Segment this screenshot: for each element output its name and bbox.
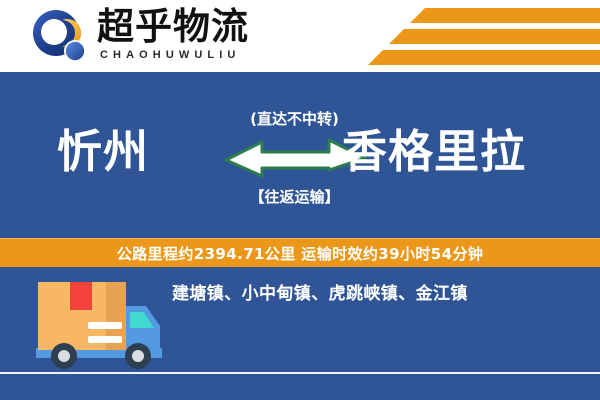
served-towns-list: 建塘镇、小中甸镇、虎跳峡镇、金江镇 — [172, 279, 592, 304]
chaohu-circle-logo-icon — [31, 9, 89, 65]
brand-name-en: CHAOHUWULIU — [100, 49, 240, 61]
brand-name-cn: 超乎物流 — [97, 7, 249, 47]
logistics-route-banner: 超乎物流 CHAOHUWULIU 忻州 (直达不中转) 【往返运输】 香格里拉 … — [0, 0, 600, 400]
orange-speed-stripes-icon — [332, 8, 600, 66]
bottom-divider — [0, 372, 600, 374]
route-info-bar: 公路里程约2394.71公里 运输时效约39小时54分钟 — [0, 238, 600, 267]
header-bar: 超乎物流 CHAOHUWULIU — [0, 0, 600, 72]
brand-logo — [31, 9, 89, 65]
delivery-truck-icon — [28, 276, 168, 374]
round-trip-note: 【往返运输】 — [222, 186, 367, 207]
origin-city: 忻州 — [57, 126, 149, 178]
distance-duration-text: 公路里程约2394.71公里 运输时效约39小时54分钟 — [117, 243, 484, 264]
destination-city: 香格里拉 — [342, 126, 526, 178]
